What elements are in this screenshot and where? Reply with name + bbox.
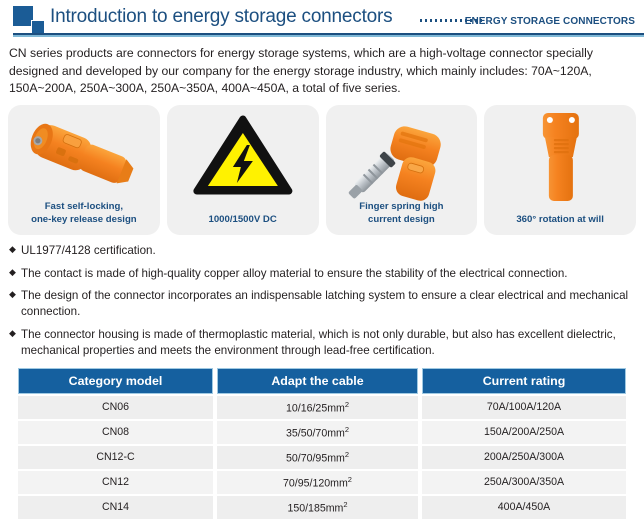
feature-card-rotation[interactable]: 360° rotation at will (484, 105, 636, 235)
header-subtitle: ENERGY STORAGE CONNECTORS (465, 16, 635, 27)
feature-card-list: Fast self-locking, one-key release desig… (8, 105, 636, 235)
feature-bullet-list: ◆ UL1977/4128 certification. ◆ The conta… (9, 243, 630, 360)
list-item: ◆ The connector housing is made of therm… (9, 327, 630, 360)
cell-current: 400A/450A (422, 496, 626, 519)
feature-card-caption: 360° rotation at will (488, 214, 632, 227)
feature-card-caption: Finger spring high current design (330, 201, 474, 227)
orange-connector-top-view-icon (484, 109, 636, 201)
intro-paragraph: CN series products are connectors for en… (9, 45, 630, 98)
table-header-category-model: Category model (18, 368, 213, 394)
orange-connector-locking-icon (8, 109, 160, 201)
cell-model: CN12-C (18, 446, 213, 469)
feature-card-caption: Fast self-locking, one-key release desig… (12, 201, 156, 227)
cell-cable: 70/95/120mm2 (217, 471, 418, 494)
table-row: CN08 35/50/70mm2 150A/200A/250A (18, 421, 626, 444)
cell-cable: 150/185mm2 (217, 496, 418, 519)
list-item-label: The connector housing is made of thermop… (21, 328, 616, 357)
cell-current: 70A/100A/120A (422, 396, 626, 419)
table-header-adapt-cable: Adapt the cable (217, 368, 418, 394)
list-item-label: UL1977/4128 certification. (21, 244, 156, 257)
feature-card-voltage[interactable]: 1000/1500V DC (167, 105, 319, 235)
list-item: ◆ The contact is made of high-quality co… (9, 266, 630, 282)
feature-card-self-locking[interactable]: Fast self-locking, one-key release desig… (8, 105, 160, 235)
diamond-bullet-icon: ◆ (9, 243, 16, 256)
high-voltage-warning-triangle-icon (167, 109, 319, 201)
cell-current: 200A/250A/300A (422, 446, 626, 469)
table-row: CN12 70/95/120mm2 250A/300A/350A (18, 471, 626, 494)
cell-current: 250A/300A/350A (422, 471, 626, 494)
cell-cable: 50/70/95mm2 (217, 446, 418, 469)
logo-square-small-icon (31, 20, 45, 34)
diamond-bullet-icon: ◆ (9, 288, 16, 301)
table-header-row: Category model Adapt the cable Current r… (18, 368, 626, 394)
feature-card-caption: 1000/1500V DC (171, 214, 315, 227)
list-item: ◆ The design of the connector incorporat… (9, 288, 630, 321)
feature-card-finger-spring[interactable]: Finger spring high current design (326, 105, 478, 235)
header-rule-light (13, 35, 644, 37)
diamond-bullet-icon: ◆ (9, 266, 16, 279)
diamond-bullet-icon: ◆ (9, 327, 16, 340)
cell-current: 150A/200A/250A (422, 421, 626, 444)
orange-connector-with-pin-icon (326, 109, 478, 201)
table-row: CN06 10/16/25mm2 70A/100A/120A (18, 396, 626, 419)
list-item-label: The contact is made of high-quality copp… (21, 267, 568, 280)
brand-logo (13, 6, 53, 36)
cell-cable: 10/16/25mm2 (217, 396, 418, 419)
list-item-label: The design of the connector incorporates… (21, 289, 628, 318)
page-title: Introduction to energy storage connector… (50, 6, 392, 28)
table-row: CN12-C 50/70/95mm2 200A/250A/300A (18, 446, 626, 469)
cell-cable: 35/50/70mm2 (217, 421, 418, 444)
cell-model: CN12 (18, 471, 213, 494)
list-item: ◆ UL1977/4128 certification. (9, 243, 630, 259)
logo-square-large-icon (13, 6, 33, 26)
page-header: Introduction to energy storage connector… (0, 0, 644, 38)
cell-model: CN14 (18, 496, 213, 519)
specifications-table: Category model Adapt the cable Current r… (14, 366, 630, 521)
table-row: CN14 150/185mm2 400A/450A (18, 496, 626, 519)
cell-model: CN08 (18, 421, 213, 444)
table-header-current-rating: Current rating (422, 368, 626, 394)
cell-model: CN06 (18, 396, 213, 419)
